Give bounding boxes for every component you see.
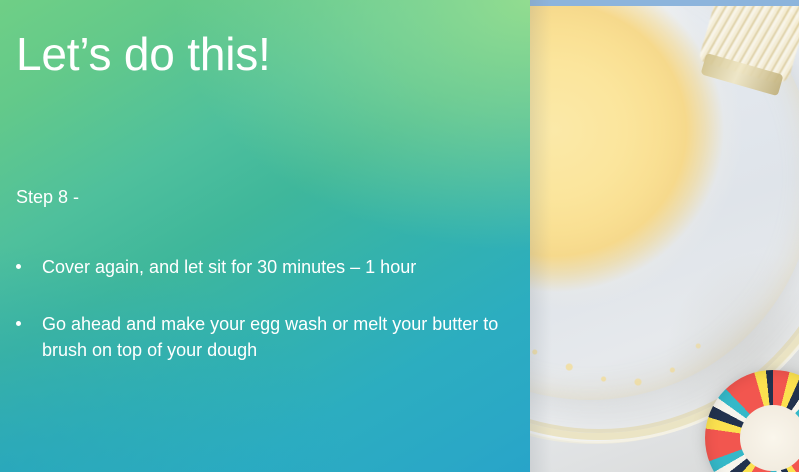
photo-top-strip <box>530 0 799 6</box>
gradient-panel: Let’s do this! Step 8 - Cover again, and… <box>0 0 530 472</box>
step-label: Step 8 - <box>16 186 79 209</box>
bullet-dot-icon <box>16 321 21 326</box>
list-item: Go ahead and make your egg wash or melt … <box>16 311 516 364</box>
bullet-dot-icon <box>16 264 21 269</box>
list-item-label: Cover again, and let sit for 30 minutes … <box>42 254 512 281</box>
plate-center <box>740 405 799 470</box>
panel-content: Let’s do this! Step 8 - Cover again, and… <box>0 0 530 472</box>
list-item-label: Go ahead and make your egg wash or melt … <box>42 311 512 364</box>
bullet-list: Cover again, and let sit for 30 minutes … <box>16 254 516 364</box>
slide: Let’s do this! Step 8 - Cover again, and… <box>0 0 799 472</box>
page-title: Let’s do this! <box>16 30 271 78</box>
list-item: Cover again, and let sit for 30 minutes … <box>16 254 516 281</box>
photo-panel <box>530 0 799 472</box>
